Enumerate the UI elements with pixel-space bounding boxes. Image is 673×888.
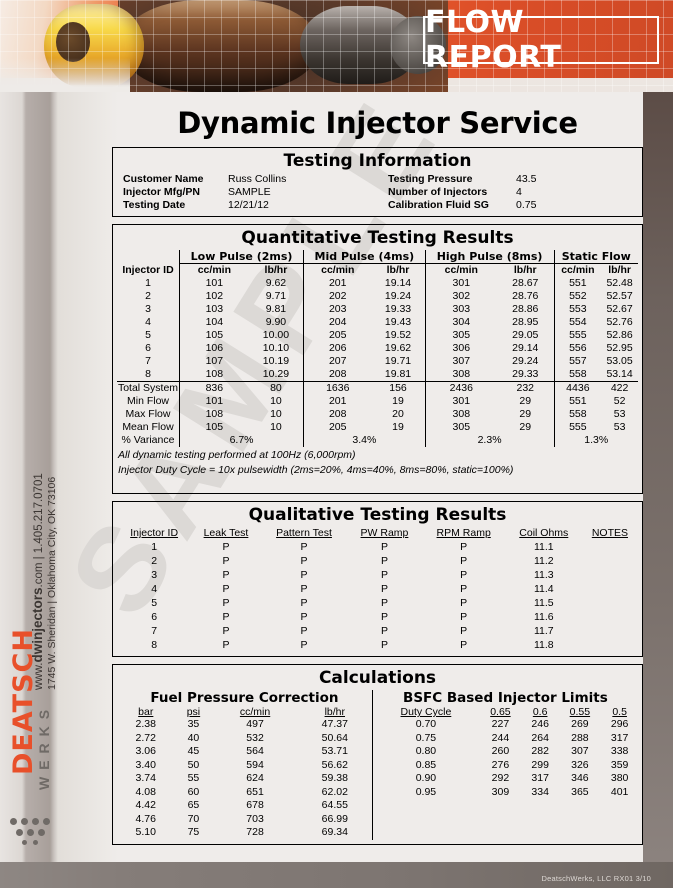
table-row: 8PPPP11.8 [117,638,638,652]
table-row: Customer Name Russ Collins Testing Press… [117,173,638,186]
flow-report-badge: FLOW REPORT [423,16,659,64]
data-cell: P [347,610,421,624]
unit-header: lb/hr [371,264,425,278]
summary-cell: 29 [497,395,554,408]
data-cell: 56.62 [298,759,372,773]
data-cell: 244 [479,732,522,746]
data-cell: 29.14 [497,342,554,355]
summary-cell: 156 [371,382,425,396]
data-cell: 5 [117,596,191,610]
data-cell: 105 [180,329,249,342]
data-cell: 19.24 [371,290,425,303]
summary-cell: 53 [601,408,638,421]
data-cell: P [347,568,421,582]
data-cell: P [261,540,348,554]
injector-id-cell: 5 [117,329,180,342]
table-row: 2PPPP11.2 [117,554,638,568]
data-cell: 50 [175,759,213,773]
table-row: 610610.1020619.6230629.1455652.95 [117,342,638,355]
data-cell: 206 [304,342,372,355]
data-cell [582,568,638,582]
table-row: 2.724053250.64 [117,732,372,746]
data-cell: 50.64 [298,732,372,746]
summary-cell: 305 [425,421,497,434]
data-cell [582,582,638,596]
data-cell: 52.95 [601,342,638,355]
data-cell: 10.00 [249,329,304,342]
summary-cell: 80 [249,382,304,396]
data-cell: 108 [180,368,249,382]
data-cell: 703 [212,813,297,827]
calculations-panel: Calculations Fuel Pressure Correction ba… [112,664,643,845]
data-cell: P [191,540,260,554]
summary-cell: 308 [425,408,497,421]
data-cell: 205 [304,329,372,342]
table-row: 510510.0020519.5230529.0555552.86 [117,329,638,342]
data-cell: 53.14 [601,368,638,382]
data-cell: P [347,638,421,652]
data-cell: 401 [601,786,638,800]
data-cell: 19.43 [371,316,425,329]
qualitative-table: Injector IDLeak TestPattern TestPW RampR… [117,527,638,652]
data-cell: 497 [212,718,297,732]
data-cell: 11.6 [506,610,582,624]
table-row: 3PPPP11.3 [117,568,638,582]
data-cell: P [191,638,260,652]
table-row: 21029.7120219.2430228.7655252.57 [117,290,638,303]
data-cell: 317 [522,772,559,786]
report-content: Dynamic Injector Service Testing Informa… [112,96,643,852]
data-cell: P [191,624,260,638]
data-cell: 0.80 [373,745,479,759]
data-cell: 45 [175,745,213,759]
data-cell: 106 [180,342,249,355]
unit-header: lb/hr [497,264,554,278]
summary-cell: 208 [304,408,372,421]
data-cell: 28.76 [497,290,554,303]
summary-row: Max Flow10810208203082955853 [117,408,638,421]
data-cell [582,638,638,652]
data-cell: 101 [180,277,249,290]
table-header-row: barpsicc/minlb/hr [117,706,372,718]
data-cell: 40 [175,732,213,746]
summary-cell: 555 [554,421,601,434]
logo-deatsch-text: DEATSCH [8,628,39,775]
data-cell: 334 [522,786,559,800]
unit-header: lb/hr [601,264,638,278]
data-cell: 19.52 [371,329,425,342]
summary-label: Max Flow [117,408,180,421]
data-cell: 303 [425,303,497,316]
summary-cell: 422 [601,382,638,396]
table-row: 6PPPP11.6 [117,610,638,624]
data-cell: P [261,554,348,568]
group-header: Low Pulse (2ms) [180,250,304,264]
data-cell: 4.08 [117,786,175,800]
table-row: 0.95309334365401 [373,786,638,800]
unit-header: lb/hr [249,264,304,278]
summary-cell: 101 [180,395,249,408]
table-row: 0.80260282307338 [373,745,638,759]
table-row: Injector Mfg/PN SAMPLE Number of Injecto… [117,186,638,199]
data-cell: P [261,624,348,638]
injector-id-header: Injector ID [117,264,180,278]
qualitative-body: 1PPPP11.12PPPP11.23PPPP11.34PPPP11.45PPP… [117,540,638,652]
table-row: 1PPPP11.1 [117,540,638,554]
data-cell: 11.3 [506,568,582,582]
data-cell: 5.10 [117,826,175,840]
column-header: bar [117,706,175,718]
data-cell [582,540,638,554]
data-cell: P [261,568,348,582]
data-cell: 246 [522,718,559,732]
summary-cell: 29 [497,408,554,421]
table-row: 3.745562459.38 [117,772,372,786]
data-cell: P [191,568,260,582]
data-cell: 2.38 [117,718,175,732]
data-cell: 553 [554,303,601,316]
data-cell: 64.55 [298,799,372,813]
column-header: Leak Test [191,527,260,540]
summary-cell: 52 [601,395,638,408]
data-cell: 380 [601,772,638,786]
data-cell: 269 [559,718,602,732]
data-cell [582,610,638,624]
data-cell: 3.74 [117,772,175,786]
data-cell: 624 [212,772,297,786]
data-cell: P [422,638,506,652]
data-cell: 19.62 [371,342,425,355]
summary-cell: 205 [304,421,372,434]
table-row: 2.383549747.37 [117,718,372,732]
summary-cell: 10 [249,408,304,421]
data-cell: 4 [117,582,191,596]
data-cell: P [261,596,348,610]
column-header: 0.65 [479,706,522,718]
data-cell: P [261,582,348,596]
data-cell: 19.71 [371,355,425,368]
data-cell: 556 [554,342,601,355]
data-cell: 728 [212,826,297,840]
data-cell: 282 [522,745,559,759]
data-cell: P [191,610,260,624]
data-cell: 564 [212,745,297,759]
data-cell: P [422,596,506,610]
variance-cell: 6.7% [180,434,304,447]
summary-cell: 836 [180,382,249,396]
unit-header: cc/min [304,264,372,278]
data-cell: 52.67 [601,303,638,316]
data-cell: 338 [601,745,638,759]
summary-cell: 558 [554,408,601,421]
data-cell: 0.70 [373,718,479,732]
data-cell: 317 [601,732,638,746]
spacer-cell [117,250,180,264]
data-cell: 0.95 [373,786,479,800]
testing-information-panel: Testing Information Customer Name Russ C… [112,147,643,217]
page-title: Dynamic Injector Service [112,106,643,140]
info-label: Injector Mfg/PN [117,186,228,199]
data-cell: 276 [479,759,522,773]
data-cell: P [422,568,506,582]
data-cell: 102 [180,290,249,303]
data-cell: 3 [117,568,191,582]
data-cell: P [422,554,506,568]
data-cell: 299 [522,759,559,773]
data-cell: 107 [180,355,249,368]
fuel-pressure-table: barpsicc/minlb/hr 2.383549747.372.724053… [117,706,372,840]
data-cell: 308 [425,368,497,382]
data-cell: P [191,582,260,596]
summary-cell: 201 [304,395,372,408]
summary-cell: 19 [371,395,425,408]
data-cell: 264 [522,732,559,746]
right-dark-band [643,0,673,888]
data-cell: 204 [304,316,372,329]
data-cell: 65 [175,799,213,813]
data-cell: 306 [425,342,497,355]
data-cell: 6 [117,610,191,624]
data-cell: 69.34 [298,826,372,840]
data-cell: 19.33 [371,303,425,316]
table-row: 0.85276299326359 [373,759,638,773]
data-cell: 1 [117,540,191,554]
fuel-pressure-body: 2.383549747.372.724053250.643.064556453.… [117,718,372,840]
data-cell: 201 [304,277,372,290]
data-cell: 346 [559,772,602,786]
data-cell: 227 [479,718,522,732]
data-cell: 554 [554,316,601,329]
data-cell: 29.05 [497,329,554,342]
summary-cell: 29 [497,421,554,434]
table-row: 3.405059456.62 [117,759,372,773]
injector-id-cell: 2 [117,290,180,303]
header-fade-mask [0,58,130,92]
bsfc-section: BSFC Based Injector Limits Duty Cycle0.6… [372,690,638,840]
bsfc-title: BSFC Based Injector Limits [373,690,638,706]
calculations-columns: Fuel Pressure Correction barpsicc/minlb/… [117,690,638,840]
column-header: Injector ID [117,527,191,540]
data-cell: P [347,582,421,596]
data-cell: 11.5 [506,596,582,610]
data-cell: 326 [559,759,602,773]
data-cell: 651 [212,786,297,800]
document-footer: DeatschWerks, LLC RX01 3/10 [542,874,651,883]
data-cell: 9.62 [249,277,304,290]
data-cell: 19.14 [371,277,425,290]
data-cell: 52.48 [601,277,638,290]
flow-report-label: FLOW REPORT [425,5,657,75]
data-cell: 302 [425,290,497,303]
data-cell: 52.76 [601,316,638,329]
summary-cell: 108 [180,408,249,421]
header-banner: FLOW REPORT [0,0,673,92]
column-header: lb/hr [298,706,372,718]
data-cell: 4.42 [117,799,175,813]
data-cell: 305 [425,329,497,342]
table-row: 4.086065162.02 [117,786,372,800]
unit-header: cc/min [425,264,497,278]
data-cell: 53.71 [298,745,372,759]
data-cell: 11.8 [506,638,582,652]
data-cell: 2.72 [117,732,175,746]
calculations-title: Calculations [117,668,638,688]
data-cell: 60 [175,786,213,800]
data-cell: 29.24 [497,355,554,368]
data-cell: 678 [212,799,297,813]
info-value: SAMPLE [228,186,388,199]
data-cell: P [422,610,506,624]
summary-row: Min Flow10110201193012955152 [117,395,638,408]
table-header-row: Injector IDLeak TestPattern TestPW RampR… [117,527,638,540]
data-cell: P [191,554,260,568]
summary-cell: 2436 [425,382,497,396]
summary-cell: 19 [371,421,425,434]
data-cell: 9.81 [249,303,304,316]
data-cell: 11.7 [506,624,582,638]
data-cell: 555 [554,329,601,342]
data-cell: 7 [117,624,191,638]
column-header: Pattern Test [261,527,348,540]
column-header: psi [175,706,213,718]
data-cell: 35 [175,718,213,732]
data-cell: 551 [554,277,601,290]
injector-id-cell: 3 [117,303,180,316]
column-header: 0.6 [522,706,559,718]
data-cell: 557 [554,355,601,368]
data-cell: 309 [479,786,522,800]
summary-cell: 301 [425,395,497,408]
data-cell: P [347,540,421,554]
group-header: High Pulse (8ms) [425,250,554,264]
unit-header: cc/min [180,264,249,278]
deatschwerks-logo: DEATSCH WERKS [2,656,58,866]
data-cell: P [422,582,506,596]
data-cell: 207 [304,355,372,368]
unit-header: cc/min [554,264,601,278]
data-cell: 301 [425,277,497,290]
logo-dot-pattern [10,818,50,852]
summary-cell: 4436 [554,382,601,396]
data-cell: 0.75 [373,732,479,746]
summary-row: Mean Flow10510205193052955553 [117,421,638,434]
data-cell [582,554,638,568]
data-cell: 11.4 [506,582,582,596]
website-suffix: .com [33,563,45,588]
summary-cell: 105 [180,421,249,434]
data-cell: 3.40 [117,759,175,773]
data-cell: 75 [175,826,213,840]
data-cell: P [261,610,348,624]
fuel-pressure-section: Fuel Pressure Correction barpsicc/minlb/… [117,690,372,840]
data-cell: 202 [304,290,372,303]
data-cell: 3.06 [117,745,175,759]
variance-cell: 1.3% [554,434,638,447]
summary-label: Mean Flow [117,421,180,434]
data-cell: 8 [117,638,191,652]
data-cell: 28.86 [497,303,554,316]
data-cell: 0.85 [373,759,479,773]
summary-row: Total System83680163615624362324436422 [117,382,638,396]
qualitative-title: Qualitative Testing Results [117,505,638,525]
injector-id-cell: 8 [117,368,180,382]
table-row: 0.70227246269296 [373,718,638,732]
qualitative-panel: Qualitative Testing Results Injector IDL… [112,501,643,657]
testing-information-title: Testing Information [117,151,638,171]
injector-id-cell: 6 [117,342,180,355]
data-cell: 9.71 [249,290,304,303]
table-row: 0.75244264288317 [373,732,638,746]
table-row: 5.107572869.34 [117,826,372,840]
data-cell [582,624,638,638]
summary-cell: 551 [554,395,601,408]
table-row: 4.767070366.99 [117,813,372,827]
data-cell [582,596,638,610]
info-value: Russ Collins [228,173,388,186]
data-cell: 208 [304,368,372,382]
data-cell: P [422,540,506,554]
table-row: 810810.2920819.8130829.3355853.14 [117,368,638,382]
phone-number: | 1.405.217.0701 [33,473,45,559]
column-header: cc/min [212,706,297,718]
data-cell: 28.95 [497,316,554,329]
variance-row: % Variance6.7%3.4%2.3%1.3% [117,434,638,447]
info-label: Number of Injectors [388,186,516,199]
summary-cell: 20 [371,408,425,421]
table-row: 31039.8120319.3330328.8655352.67 [117,303,638,316]
data-cell: P [347,554,421,568]
data-cell: 10.10 [249,342,304,355]
data-cell: 19.81 [371,368,425,382]
summary-label: Total System [117,382,180,396]
data-cell: 260 [479,745,522,759]
info-label: Calibration Fluid SG [388,199,516,212]
column-header: 0.55 [559,706,602,718]
table-row: 4.426567864.55 [117,799,372,813]
column-header: 0.5 [601,706,638,718]
data-cell: 10.19 [249,355,304,368]
data-cell: 70 [175,813,213,827]
variance-cell: 2.3% [425,434,554,447]
info-value: 4 [516,186,638,199]
table-header-units: Injector ID cc/min lb/hr cc/min lb/hr cc… [117,264,638,278]
column-header: PW Ramp [347,527,421,540]
injector-id-cell: 4 [117,316,180,329]
data-cell: 4.76 [117,813,175,827]
summary-cell: 1636 [304,382,372,396]
data-cell: 304 [425,316,497,329]
data-cell: 359 [601,759,638,773]
quantitative-panel: Quantitative Testing Results Low Pulse (… [112,224,643,494]
data-cell: 0.90 [373,772,479,786]
column-header: RPM Ramp [422,527,506,540]
info-label: Testing Date [117,199,228,212]
variance-cell: 3.4% [304,434,426,447]
data-cell: P [261,638,348,652]
info-value: 12/21/12 [228,199,388,212]
data-cell: 52.57 [601,290,638,303]
data-cell: P [347,624,421,638]
data-cell: 292 [479,772,522,786]
data-cell: 11.2 [506,554,582,568]
injector-id-cell: 1 [117,277,180,290]
data-cell: 296 [601,718,638,732]
group-header: Mid Pulse (4ms) [304,250,426,264]
info-label: Testing Pressure [388,173,516,186]
column-header: Duty Cycle [373,706,479,718]
data-cell: 307 [559,745,602,759]
table-row: Testing Date 12/21/12 Calibration Fluid … [117,199,638,212]
